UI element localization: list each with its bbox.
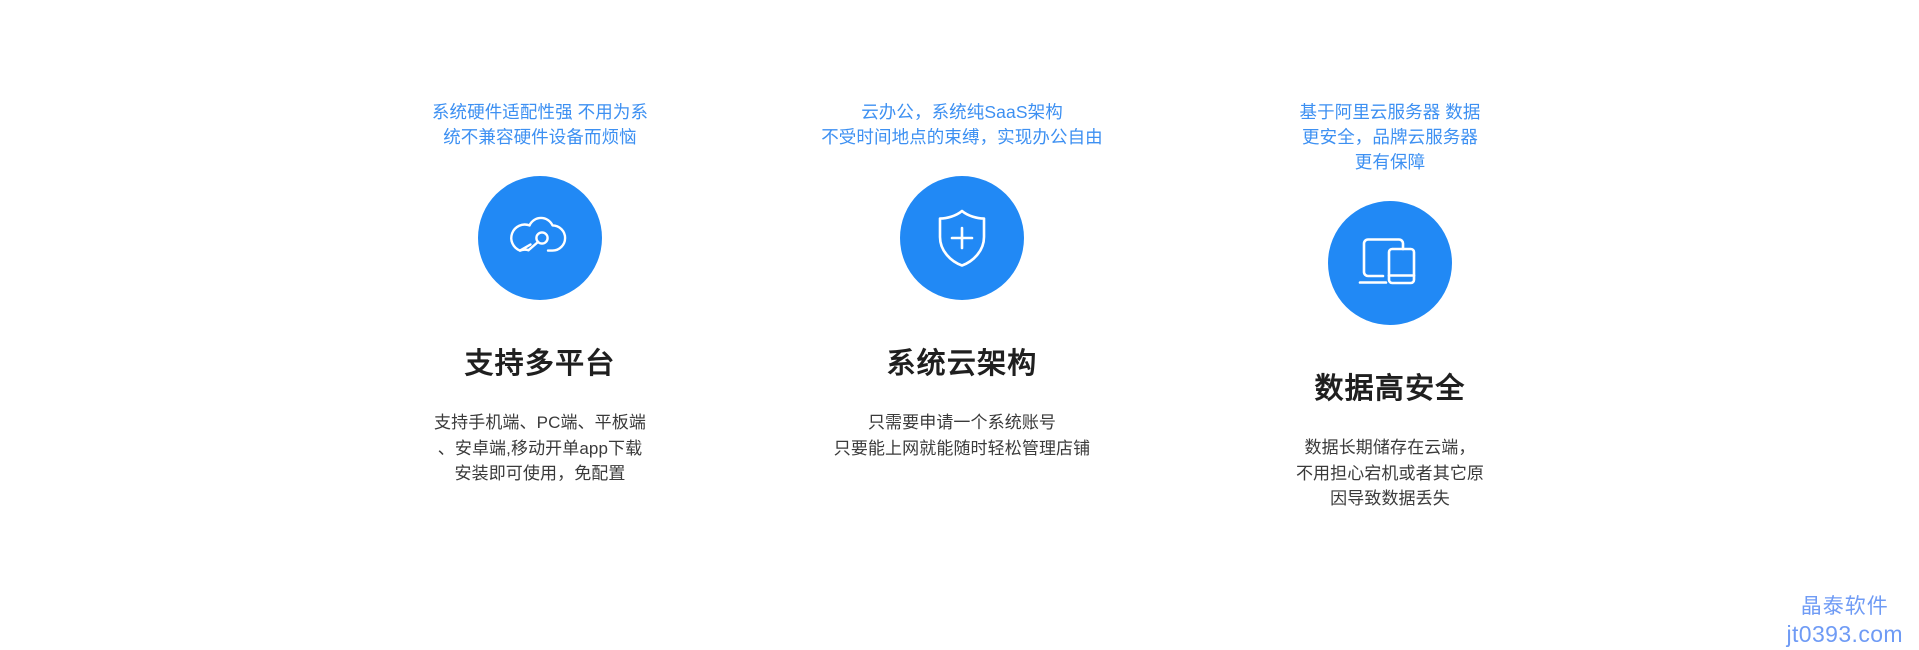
feature-card-cloud-architecture[interactable]: 云办公，系统纯SaaS架构 不受时间地点的束缚，实现办公自由 系统云架构 只需要… [812, 0, 1112, 461]
feature-caption: 系统硬件适配性强 不用为系 统不兼容硬件设备而烦恼 [415, 100, 665, 150]
feature-title: 支持多平台 [464, 347, 615, 382]
features-columns: 系统硬件适配性强 不用为系 统不兼容硬件设备而烦恼 支持多平台 支持手机端、PC… [390, 0, 1540, 650]
watermark-brand: 晶泰软件 [1786, 594, 1903, 620]
feature-title: 系统云架构 [886, 347, 1037, 382]
watermark: 晶泰软件 jt0393.com [1786, 594, 1903, 648]
feature-title: 数据高安全 [1314, 372, 1465, 407]
feature-description: 只需要申请一个系统账号 只要能上网就能随时轻松管理店铺 [812, 410, 1112, 461]
feature-icon-badge[interactable] [900, 176, 1024, 300]
watermark-url: jt0393.com [1786, 620, 1903, 648]
feature-caption: 基于阿里云服务器 数据 更安全，品牌云服务器 更有保障 [1265, 100, 1515, 175]
feature-caption: 云办公，系统纯SaaS架构 不受时间地点的束缚，实现办公自由 [812, 100, 1112, 150]
devices-icon [1358, 232, 1422, 294]
feature-description: 支持手机端、PC端、平板端 、安卓端,移动开单app下载 安装即可使用，免配置 [415, 410, 665, 487]
features-section: 系统硬件适配性强 不用为系 统不兼容硬件设备而烦恼 支持多平台 支持手机端、PC… [0, 0, 1919, 650]
shield-plus-icon [931, 206, 993, 270]
feature-card-multi-platform[interactable]: 系统硬件适配性强 不用为系 统不兼容硬件设备而烦恼 支持多平台 支持手机端、PC… [390, 0, 690, 487]
feature-icon-badge[interactable] [478, 176, 602, 300]
feature-icon-badge[interactable] [1328, 201, 1452, 325]
feature-description: 数据长期储存在云端， 不用担心宕机或者其它原 因导致数据丢失 [1265, 435, 1515, 512]
cloud-node-icon [505, 210, 575, 266]
feature-card-data-security[interactable]: 基于阿里云服务器 数据 更安全，品牌云服务器 更有保障 数据高安全 数据长期储存… [1240, 0, 1540, 512]
